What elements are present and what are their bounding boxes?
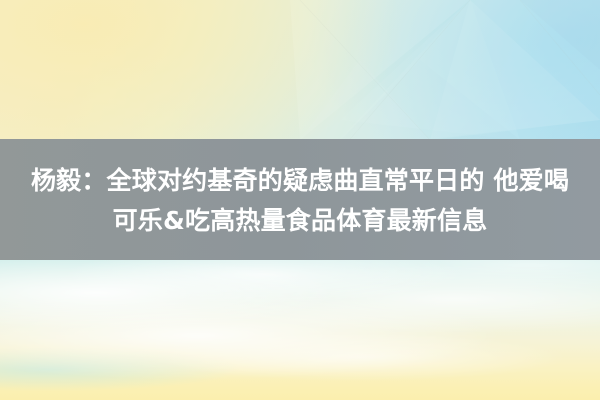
- caption-band: 杨毅：全球对约基奇的疑虑曲直常平日的 他爱喝 可乐&吃高热量食品体育最新信息: [0, 139, 600, 260]
- caption-line-2: 可乐&吃高热量食品体育最新信息: [113, 201, 488, 241]
- background-clouds: [0, 247, 600, 400]
- news-thumbnail-card: 杨毅：全球对约基奇的疑虑曲直常平日的 他爱喝 可乐&吃高热量食品体育最新信息: [0, 0, 600, 400]
- background-sky: [0, 247, 600, 400]
- caption-line-1: 杨毅：全球对约基奇的疑虑曲直常平日的 他爱喝: [31, 161, 569, 201]
